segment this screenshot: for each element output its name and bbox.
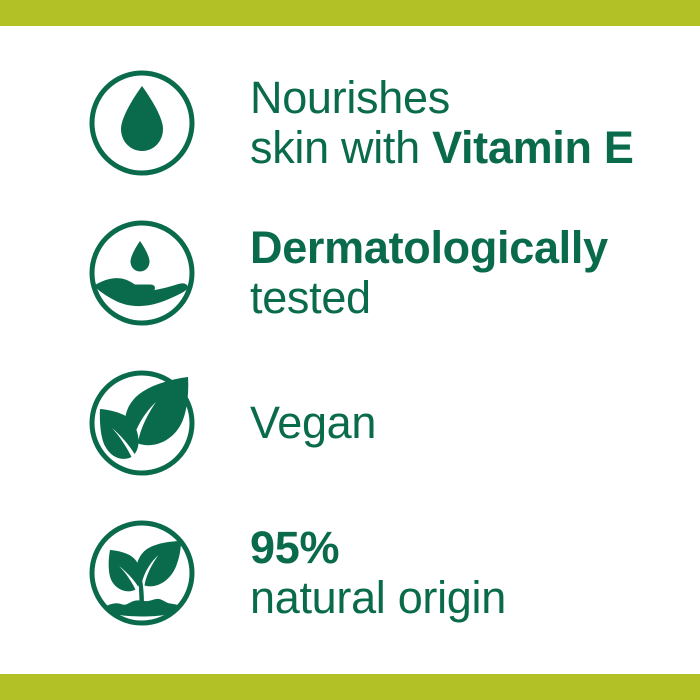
feature-line-2: tested: [250, 273, 608, 323]
sprout-in-soil-icon: [88, 519, 196, 627]
product-claims-panel: Nourishes skin with Vitamin E Dermatolog…: [0, 0, 700, 700]
feature-row: Nourishes skin with Vitamin E: [0, 48, 700, 198]
hand-with-droplet-icon: [88, 219, 196, 327]
feature-label: 95% natural origin: [250, 523, 506, 624]
feature-line-1: Nourishes: [250, 73, 634, 123]
feature-label: Dermatologically tested: [250, 223, 608, 324]
feature-line-2: natural origin: [250, 573, 506, 623]
feature-list: Nourishes skin with Vitamin E Dermatolog…: [0, 26, 700, 674]
feature-line-2: skin with Vitamin E: [250, 123, 634, 173]
feature-line-2-bold: Vitamin E: [432, 122, 634, 173]
feature-line-2-regular: skin with: [250, 122, 432, 173]
feature-line-1: Dermatologically: [250, 223, 608, 273]
feature-row: Vegan: [0, 348, 700, 498]
two-leaves-icon: [88, 369, 196, 477]
droplet-icon: [88, 69, 196, 177]
feature-row: 95% natural origin: [0, 498, 700, 648]
lime-band-top: [0, 0, 700, 26]
feature-label: Vegan: [250, 398, 376, 448]
feature-line-1: Vegan: [250, 398, 376, 448]
lime-band-bottom: [0, 674, 700, 700]
feature-label: Nourishes skin with Vitamin E: [250, 73, 634, 174]
feature-row: Dermatologically tested: [0, 198, 700, 348]
feature-line-1: 95%: [250, 523, 506, 573]
